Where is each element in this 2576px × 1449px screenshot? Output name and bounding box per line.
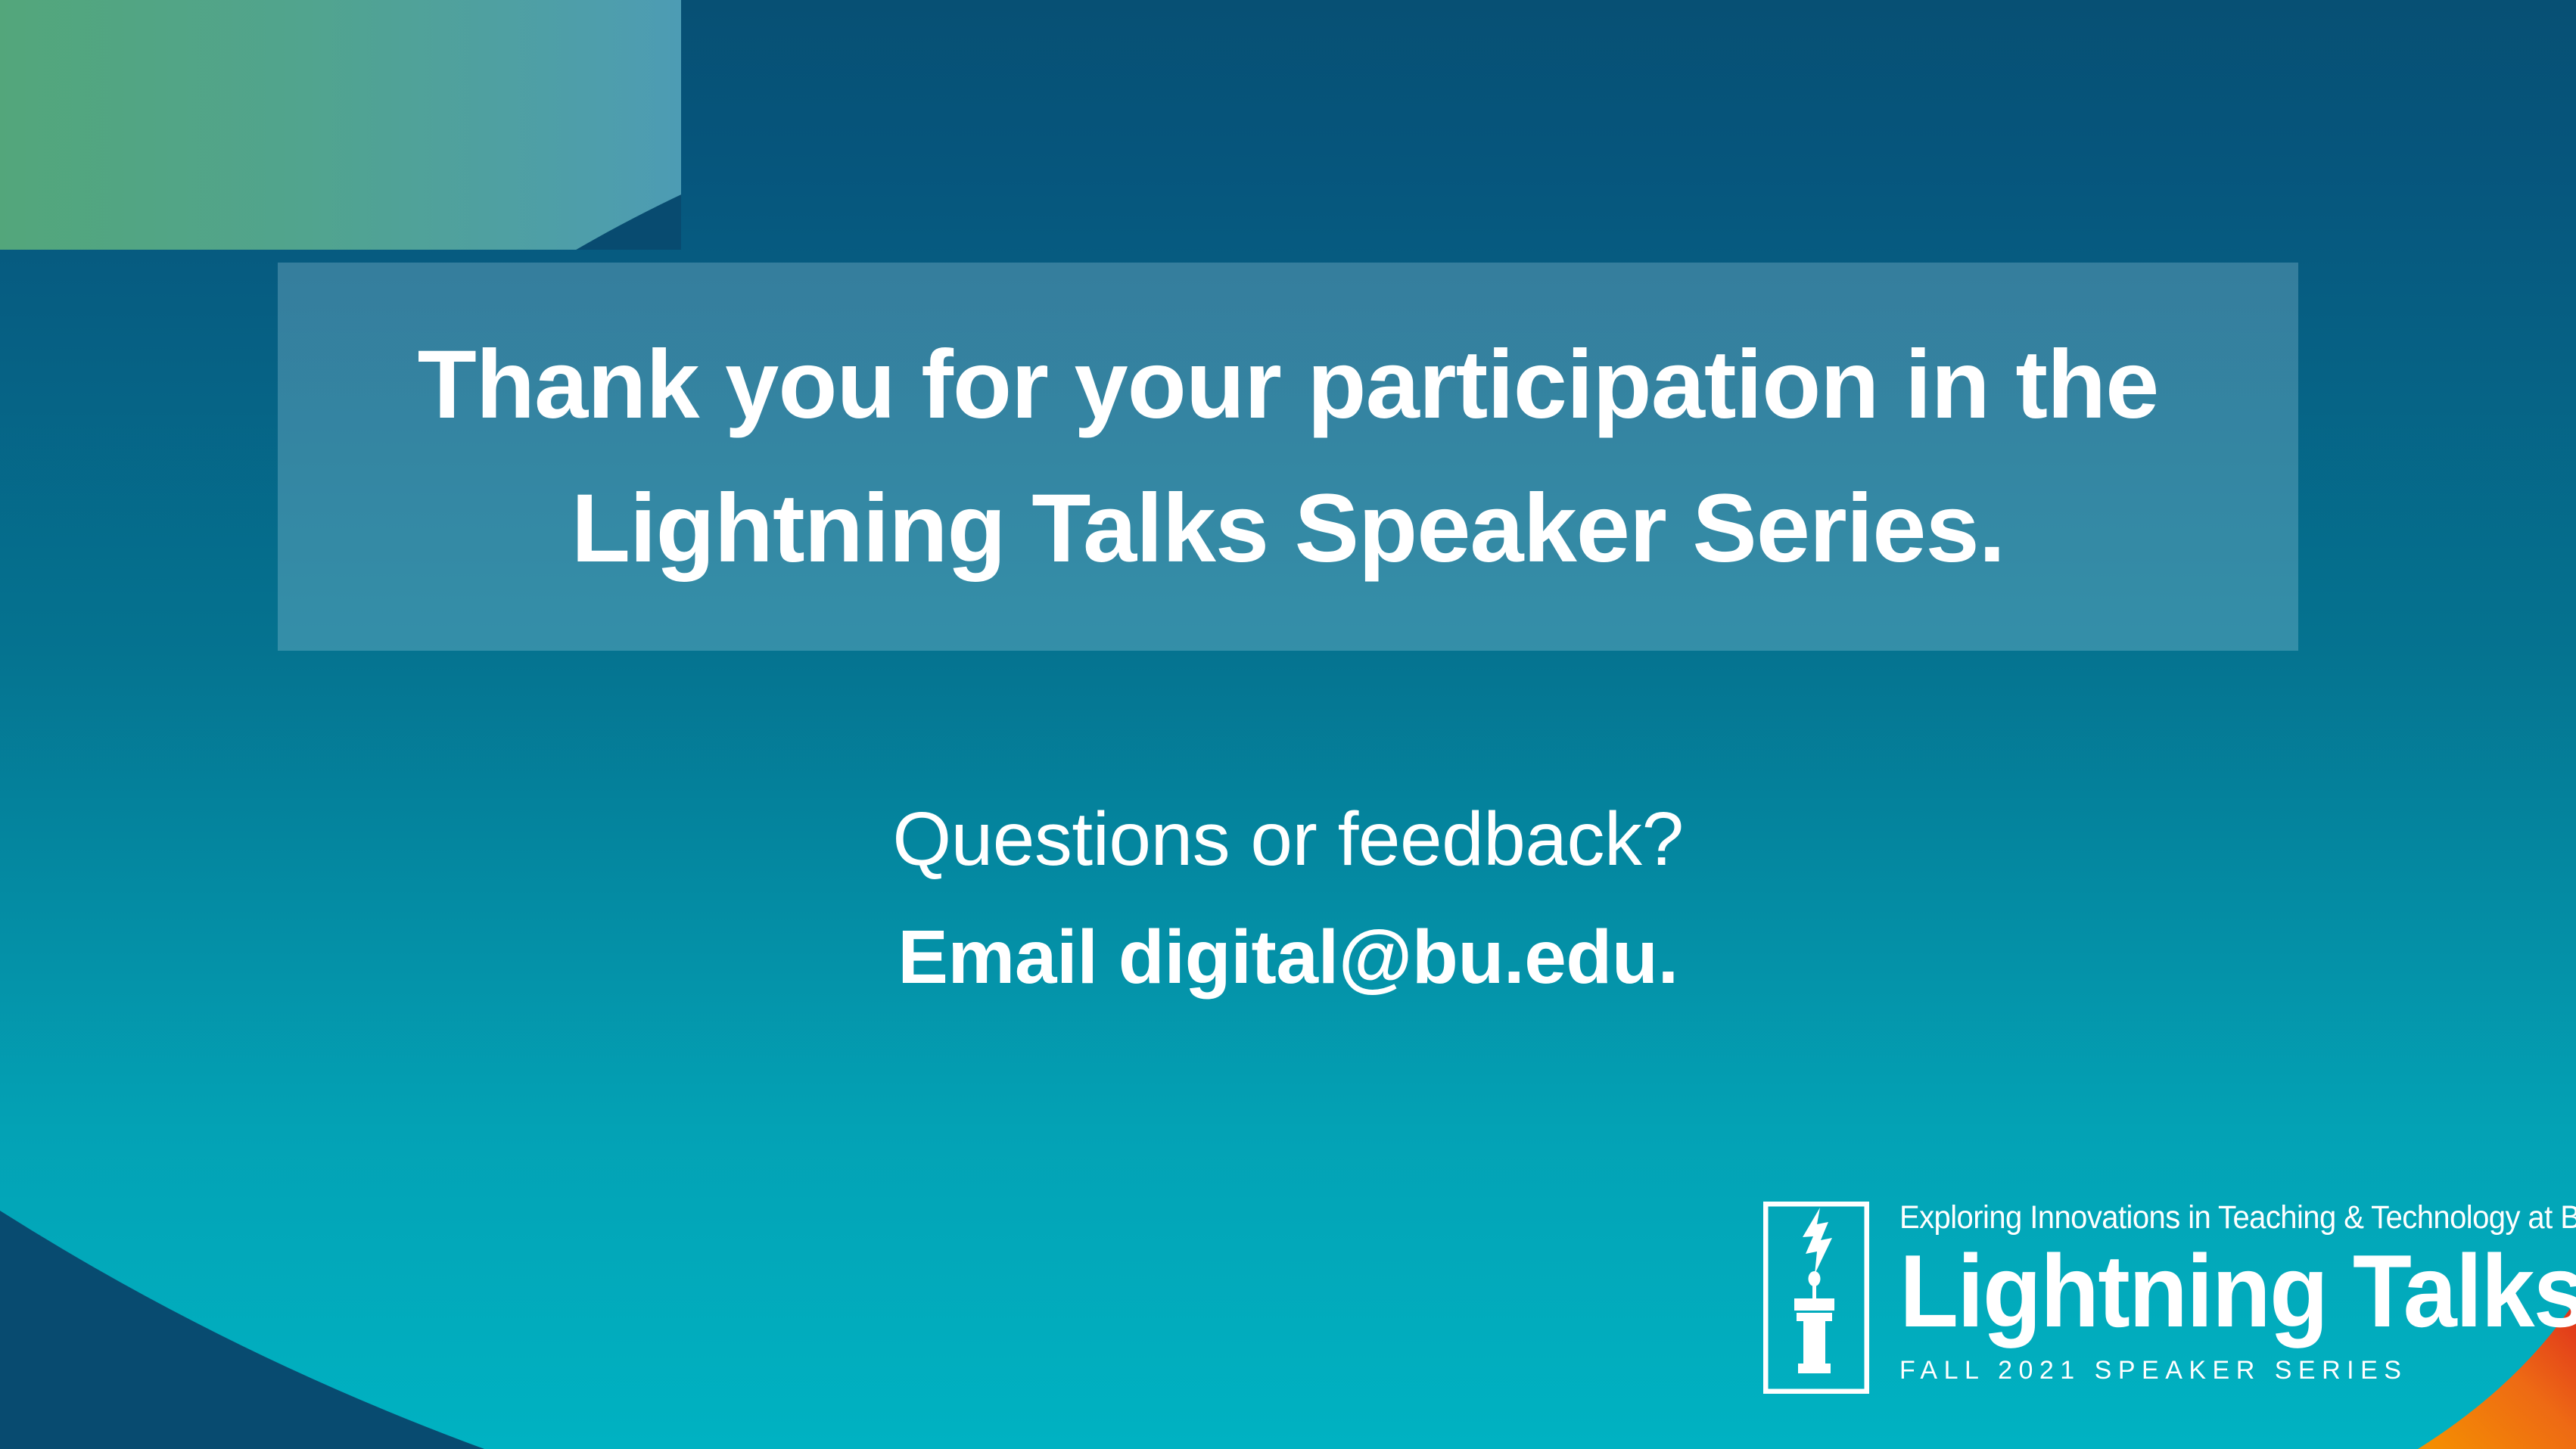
logo-lockup: Exploring Innovations in Teaching & Tech… (1763, 1202, 2576, 1394)
headline-line-2: Lightning Talks Speaker Series. (571, 457, 2005, 600)
headline-line-1: Thank you for your participation in the (418, 313, 2159, 456)
slide-canvas: Thank you for your participation in the … (0, 0, 2576, 1449)
logo-text-group: Exploring Innovations in Teaching & Tech… (1899, 1202, 2576, 1385)
email-instruction: Email digital@bu.edu. (0, 909, 2576, 1006)
logo-title: Lightning Talks (1899, 1239, 2576, 1344)
headline-panel: Thank you for your participation in the … (278, 263, 2298, 651)
logo-tagline: Exploring Innovations in Teaching & Tech… (1899, 1202, 2576, 1234)
lightning-bolt-podium-icon (1763, 1202, 1869, 1394)
logo-series-label: FALL 2021 SPEAKER SERIES (1899, 1356, 2407, 1385)
question-prompt: Questions or feedback? (0, 791, 2576, 888)
body-copy-block: Questions or feedback? Email digital@bu.… (0, 791, 2576, 1006)
